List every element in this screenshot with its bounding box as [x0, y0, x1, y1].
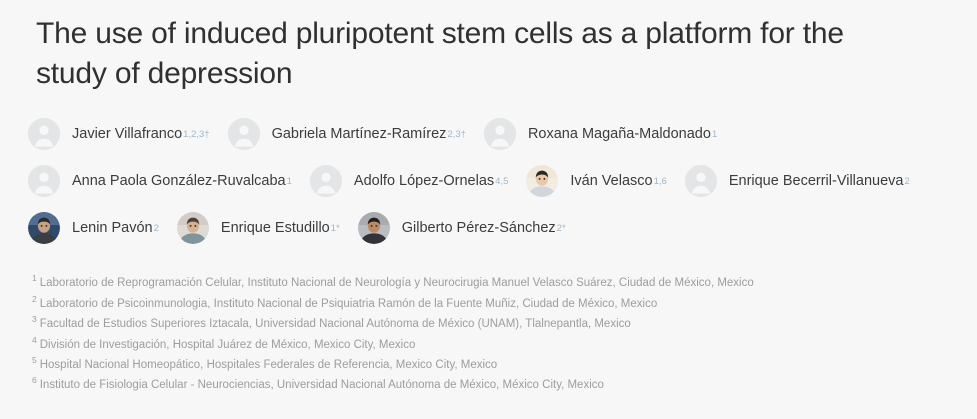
affiliation-item: 5Hospital Nacional Homeopático, Hospital… — [32, 354, 957, 374]
author-entry[interactable]: Javier Villafranco1,2,3† — [28, 118, 210, 150]
author-entry[interactable]: Gilberto Pérez-Sánchez2* — [358, 212, 566, 244]
affiliation-text: Hospital Nacional Homeopático, Hospitale… — [40, 359, 497, 371]
affiliation-item: 2Laboratorio de Psicoinmunologia, Instit… — [32, 293, 957, 313]
author-row: Lenin Pavón2Enrique Estudillo1*Gilberto … — [28, 209, 957, 247]
affiliation-text: Facultad de Estudios Superiores Iztacala… — [40, 318, 631, 330]
affiliation-text: Laboratorio de Reprogramación Celular, I… — [40, 277, 754, 289]
author-entry[interactable]: Anna Paola González-Ruvalcaba1 — [28, 165, 292, 197]
author-affiliation-superscript: 2 — [904, 176, 909, 187]
author-affiliation-superscript: 1 — [712, 129, 717, 140]
author-name[interactable]: Anna Paola González-Ruvalcaba — [72, 174, 286, 189]
author-photo-enrique-estudillo — [177, 212, 209, 244]
affiliation-item: 4División de Investigación, Hospital Juá… — [32, 334, 957, 354]
author-photo-lenin-pavon — [28, 212, 60, 244]
author-row: Javier Villafranco1,2,3†Gabriela Martíne… — [28, 115, 957, 153]
affiliation-item: 3Facultad de Estudios Superiores Iztacal… — [32, 313, 957, 333]
author-photo-gilberto-perez-sanchez — [358, 212, 390, 244]
author-name[interactable]: Iván Velasco — [570, 174, 652, 189]
affiliation-index: 1 — [32, 273, 37, 283]
person-placeholder-icon — [228, 118, 260, 150]
person-placeholder-icon — [685, 165, 717, 197]
author-name[interactable]: Enrique Estudillo — [221, 221, 330, 236]
author-affiliation-superscript: 1,2,3† — [183, 129, 209, 140]
affiliation-text: Instituto de Fisiologia Celular - Neuroc… — [40, 379, 604, 391]
affiliation-item: 6Instituto de Fisiologia Celular - Neuro… — [32, 374, 957, 394]
author-affiliation-superscript: 1* — [331, 223, 340, 234]
person-placeholder-icon — [484, 118, 516, 150]
author-entry[interactable]: Gabriela Martínez-Ramírez2,3† — [228, 118, 466, 150]
affiliation-index: 4 — [32, 335, 37, 345]
author-name[interactable]: Lenin Pavón — [72, 221, 153, 236]
article-header-page: The use of induced pluripotent stem cell… — [0, 0, 977, 419]
author-affiliation-superscript: 1,6 — [654, 176, 667, 187]
affiliation-text: Laboratorio de Psicoinmunologia, Institu… — [40, 297, 658, 309]
author-affiliation-superscript: 2 — [154, 223, 159, 234]
author-name[interactable]: Roxana Magaña-Maldonado — [528, 127, 711, 142]
author-name[interactable]: Gabriela Martínez-Ramírez — [272, 127, 447, 142]
author-affiliation-superscript: 2* — [557, 223, 566, 234]
author-name[interactable]: Enrique Becerril-Villanueva — [729, 174, 904, 189]
author-name[interactable]: Javier Villafranco — [72, 127, 182, 142]
author-affiliation-superscript: 2,3† — [447, 129, 466, 140]
author-entry[interactable]: Adolfo López-Ornelas4,5 — [310, 165, 508, 197]
author-entry[interactable]: Lenin Pavón2 — [28, 212, 159, 244]
author-list: Javier Villafranco1,2,3†Gabriela Martíne… — [0, 93, 977, 247]
person-placeholder-icon — [310, 165, 342, 197]
author-entry[interactable]: Enrique Becerril-Villanueva2 — [685, 165, 910, 197]
author-entry[interactable]: Iván Velasco1,6 — [526, 165, 666, 197]
author-entry[interactable]: Roxana Magaña-Maldonado1 — [484, 118, 717, 150]
author-name[interactable]: Gilberto Pérez-Sánchez — [402, 221, 556, 236]
affiliation-index: 2 — [32, 294, 37, 304]
affiliation-index: 3 — [32, 314, 37, 324]
author-affiliation-superscript: 1 — [287, 176, 292, 187]
affiliation-index: 5 — [32, 355, 37, 365]
affiliation-item: 1Laboratorio de Reprogramación Celular, … — [32, 272, 957, 292]
affiliation-text: División de Investigación, Hospital Juár… — [40, 338, 416, 350]
affiliation-index: 6 — [32, 375, 37, 385]
author-entry[interactable]: Enrique Estudillo1* — [177, 212, 340, 244]
author-row: Anna Paola González-Ruvalcaba1Adolfo Lóp… — [28, 162, 957, 200]
author-affiliation-superscript: 4,5 — [495, 176, 508, 187]
author-name[interactable]: Adolfo López-Ornelas — [354, 174, 494, 189]
page-title: The use of induced pluripotent stem cell… — [0, 0, 977, 93]
author-photo-ivan-velasco — [526, 165, 558, 197]
person-placeholder-icon — [28, 165, 60, 197]
affiliation-list: 1Laboratorio de Reprogramación Celular, … — [0, 256, 977, 395]
person-placeholder-icon — [28, 118, 60, 150]
